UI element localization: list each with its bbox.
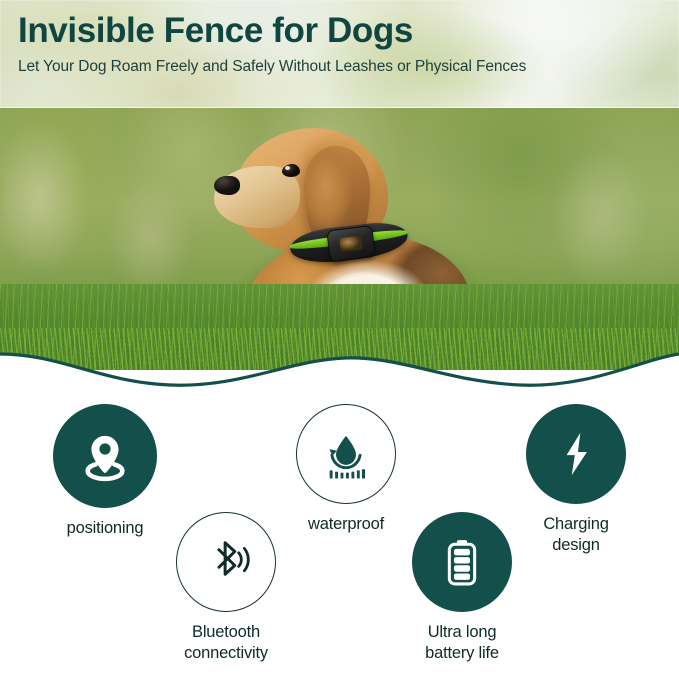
page-subtitle: Let Your Dog Roam Freely and Safely With… [18, 56, 663, 78]
header-text-group: Invisible Fence for Dogs Let Your Dog Ro… [18, 8, 663, 78]
feature-bluetooth[interactable]: Bluetooth connectivity [142, 512, 310, 664]
water-drop-icon [317, 425, 375, 483]
feature-list: positioning [0, 390, 679, 674]
feature-battery-life[interactable]: Ultra long battery life [378, 512, 546, 664]
battery-full-icon [435, 535, 489, 589]
waterproof-icon-circle [296, 404, 396, 504]
page-title: Invisible Fence for Dogs [18, 8, 663, 54]
lightning-bolt-icon [551, 429, 601, 479]
bluetooth-icon [198, 534, 254, 590]
dog-eye [282, 164, 300, 177]
bluetooth-label: Bluetooth connectivity [142, 622, 310, 664]
location-pin-icon [77, 428, 133, 484]
dog-nose [214, 176, 240, 195]
battery-label: Ultra long battery life [378, 622, 546, 664]
collar-receiver-unit [326, 225, 376, 262]
charging-icon-circle [526, 404, 626, 504]
battery-icon-circle [412, 512, 512, 612]
positioning-icon-circle [53, 404, 157, 508]
bluetooth-icon-circle [176, 512, 276, 612]
product-infographic: Invisible Fence for Dogs Let Your Dog Ro… [0, 0, 679, 674]
